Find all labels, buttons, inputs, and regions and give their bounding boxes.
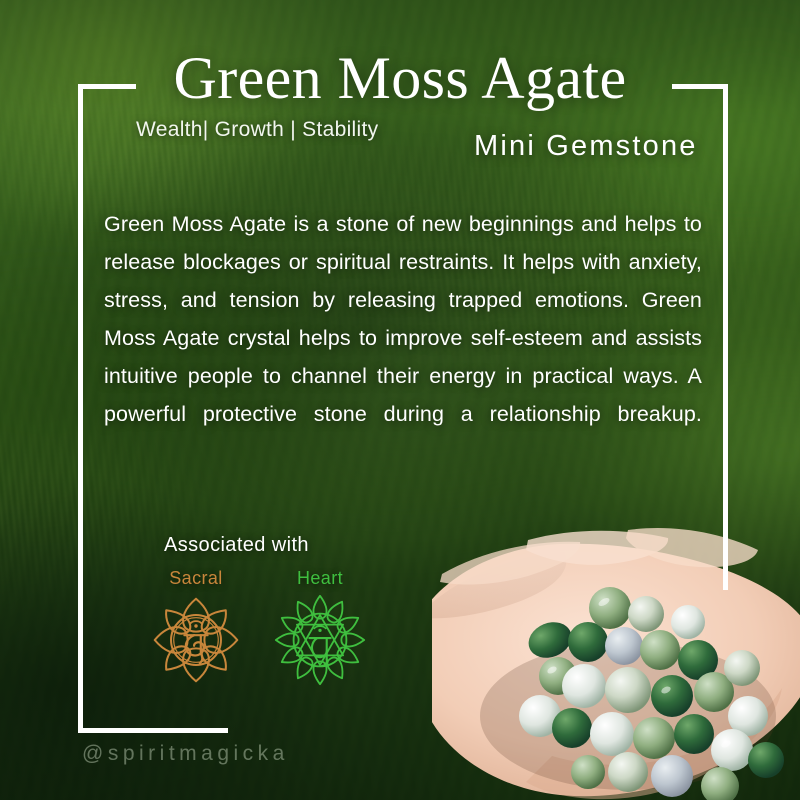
associated-with-heading: Associated with [164,534,309,557]
page-title: Green Moss Agate [0,48,800,108]
frame-right-edge [723,84,728,590]
product-info-card: Green Moss Agate Wealth| Growth | Stabil… [0,0,800,800]
frame-left-edge [78,84,83,733]
product-type-label: Mini Gemstone [474,130,698,163]
chakra-item-sacral: Sacral [144,568,248,688]
hand-with-gemstones-photo [432,520,800,800]
brand-watermark: @spiritmagicka [82,742,289,766]
chakra-label-sacral: Sacral [144,568,248,589]
product-keywords: Wealth| Growth | Stability [136,118,378,142]
product-description: Green Moss Agate is a stone of new begin… [104,205,702,433]
chakra-item-heart: Heart [268,568,372,688]
chakra-label-heart: Heart [268,568,372,589]
frame-bottom-segment [78,728,228,733]
chakra-list: Sacral [130,568,380,698]
sacral-chakra-icon [148,592,244,688]
heart-chakra-icon [272,592,368,688]
